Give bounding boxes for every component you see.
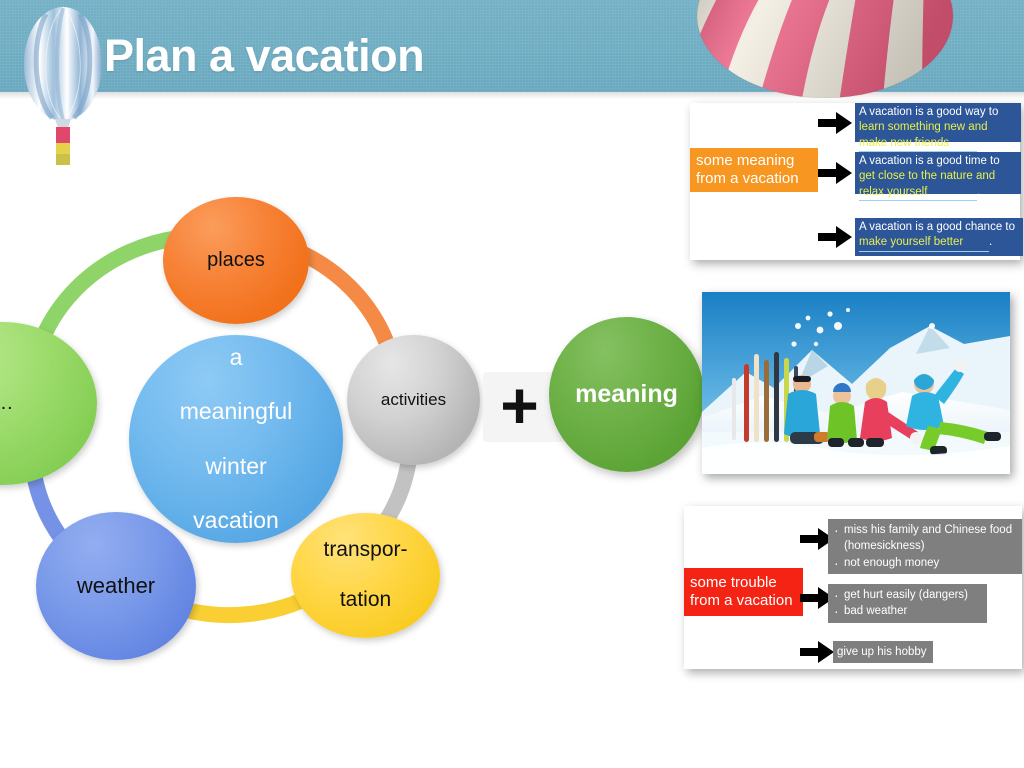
bubble-meaning-label: meaning <box>575 380 678 409</box>
trouble-bullet: give up his hobby <box>837 646 927 658</box>
hot-air-balloon-pink-icon <box>696 0 954 98</box>
bubble-center[interactable]: a meaningful winter vacation <box>129 335 343 543</box>
quote-2-fill1: get close to the nature and <box>859 170 995 182</box>
ski-photo <box>702 292 1010 474</box>
bubble-places[interactable]: places <box>163 197 309 324</box>
quote-3-lead: A vacation is a good chance to <box>859 221 1015 233</box>
quote-2-lead: A vacation is a good time to <box>859 155 1000 167</box>
bubble-meaning[interactable]: meaning <box>549 317 704 472</box>
tag-some-meaning-line2: from a vacation <box>696 170 818 188</box>
page-title: Plan a vacation <box>104 30 424 82</box>
quote-1-fill2: make new friends <box>859 136 977 152</box>
tag-some-meaning: some meaning from a vacation <box>690 148 818 192</box>
quote-2-fill2: relax yourself <box>859 185 977 201</box>
quote-3-tail: . <box>989 236 992 248</box>
bubble-weather-label: weather <box>77 573 155 599</box>
arrow-right-icon <box>818 162 852 184</box>
trouble-group-3: give up his hobby <box>833 641 933 663</box>
trouble-bullet: miss his family and Chinese food (homesi… <box>844 522 1017 555</box>
quote-1-lead: A vacation is a good way to <box>859 106 998 118</box>
cycle-diagram: … places activities transpor- tation wea… <box>0 190 490 660</box>
quote-item-1: A vacation is a good way to learn someth… <box>855 103 1021 142</box>
tag-some-trouble-line2: from a vacation <box>690 592 803 610</box>
arrow-right-icon <box>800 641 834 663</box>
bubble-activities[interactable]: activities <box>347 335 480 465</box>
bubble-places-label: places <box>207 249 265 273</box>
bubble-transportation[interactable]: transpor- tation <box>291 513 440 638</box>
trouble-bullet: not enough money <box>844 555 1017 571</box>
bubble-activities-label: activities <box>381 390 446 410</box>
hot-air-balloon-blue-icon <box>22 6 104 178</box>
bubble-center-label: a meaningful winter vacation <box>180 344 293 534</box>
arrow-right-icon <box>818 112 852 134</box>
quote-3-fill1: make yourself better <box>859 235 989 251</box>
quote-item-2: A vacation is a good time to get close t… <box>855 152 1021 194</box>
quote-item-3: A vacation is a good chance to make your… <box>855 218 1023 256</box>
bubble-transportation-label: transpor- tation <box>323 538 407 612</box>
trouble-bullet: bad weather <box>844 603 982 619</box>
quote-2-tail: . <box>977 186 980 198</box>
tag-some-meaning-line1: some meaning <box>696 152 818 170</box>
tag-some-trouble: some trouble from a vacation <box>684 568 803 616</box>
trouble-bullet: get hurt easily (dangers) <box>844 587 982 603</box>
slide-canvas: Plan a vacation <box>0 0 1024 768</box>
bubble-ellipsis-label: … <box>0 392 14 416</box>
trouble-group-2: get hurt easily (dangers) bad weather <box>828 584 987 623</box>
arrow-right-icon <box>818 226 852 248</box>
quote-1-tail: . <box>977 137 980 149</box>
trouble-group-1: miss his family and Chinese food (homesi… <box>828 519 1022 574</box>
tag-some-trouble-line1: some trouble <box>690 574 803 592</box>
plus-icon: + <box>492 374 547 436</box>
quote-1-fill1: learn something new and <box>859 121 988 133</box>
bubble-weather[interactable]: weather <box>36 512 196 660</box>
